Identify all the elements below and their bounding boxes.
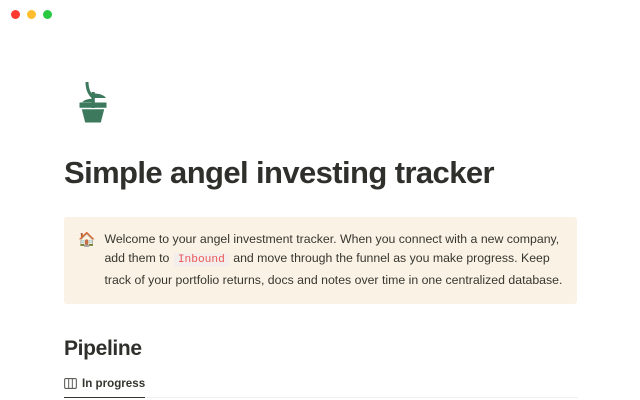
page-content: Simple angel investing tracker 🏠 Welcome… xyxy=(0,71,640,400)
page-title: Simple angel investing tracker xyxy=(64,156,640,191)
welcome-callout: 🏠 Welcome to your angel investment track… xyxy=(64,217,577,305)
inbound-code-chip: Inbound xyxy=(174,253,229,267)
callout-text: Welcome to your angel investment tracker… xyxy=(104,230,563,291)
window-titlebar xyxy=(0,0,640,28)
kanban-board-icon xyxy=(64,378,77,389)
tab-label-in-progress: In progress xyxy=(82,377,145,390)
section-heading-pipeline: Pipeline xyxy=(64,337,640,361)
tab-in-progress[interactable]: In progress xyxy=(64,374,145,398)
seedling-in-pot-icon[interactable] xyxy=(64,71,122,129)
maximize-window-button[interactable] xyxy=(43,10,52,19)
house-icon: 🏠 xyxy=(78,230,95,249)
minimize-window-button[interactable] xyxy=(27,10,36,19)
close-window-button[interactable] xyxy=(11,10,20,19)
view-tab-bar: In progress xyxy=(64,374,640,398)
